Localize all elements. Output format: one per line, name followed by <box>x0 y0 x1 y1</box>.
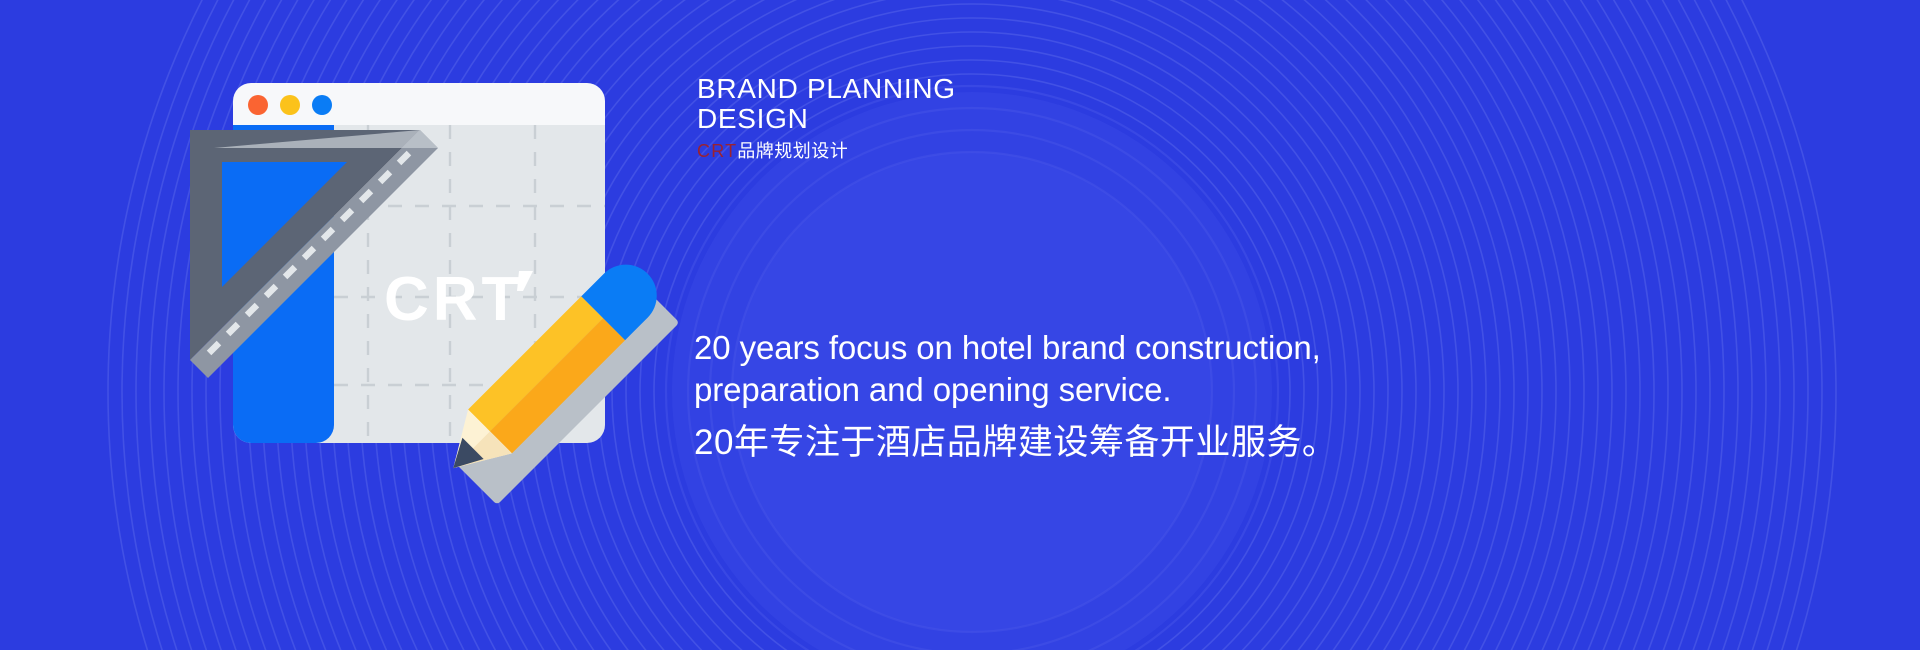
maximize-dot <box>312 95 332 115</box>
headline-title: BRAND PLANNING DESIGN <box>697 74 1397 134</box>
tagline-chinese: 20年专注于酒店品牌建设筹备开业服务。 <box>694 421 1674 465</box>
brand-design-illustration: CRT <box>0 0 760 650</box>
tagline-block: 20 years focus on hotel brand constructi… <box>694 327 1674 465</box>
headline-brand-mark: CRT <box>697 141 737 161</box>
headline-subtitle-text: 品牌规划设计 <box>737 141 848 161</box>
crt-logo-mark: CRT <box>384 265 533 334</box>
crt-logo-text: CRT <box>384 265 523 334</box>
headline-subtitle: CRT品牌规划设计 <box>697 141 1397 163</box>
banner-root: CRT <box>0 0 1920 650</box>
minimize-dot <box>280 95 300 115</box>
tagline-english: 20 years focus on hotel brand constructi… <box>694 327 1674 411</box>
close-dot <box>248 95 268 115</box>
headline-block: BRAND PLANNING DESIGN CRT品牌规划设计 <box>697 74 1397 163</box>
